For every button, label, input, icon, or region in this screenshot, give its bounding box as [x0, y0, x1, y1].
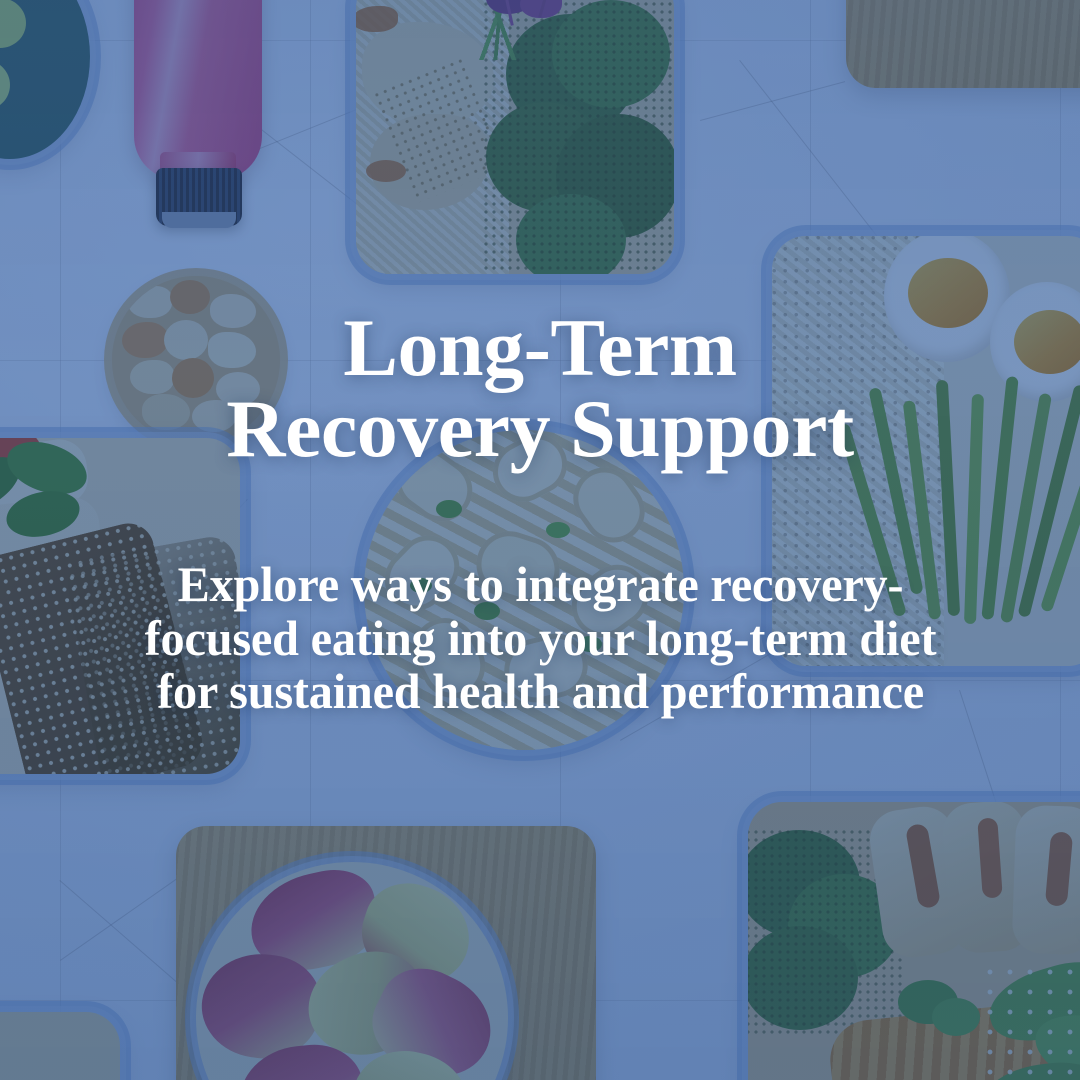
text-layer: Long-Term Recovery Support Explore ways …: [0, 0, 1080, 1080]
headline-line-1: Long-Term: [226, 307, 853, 388]
headline-line-2: Recovery Support: [226, 388, 853, 469]
poster-subheadline: Explore ways to integrate recovery-focus…: [132, 558, 947, 719]
poster-canvas: Long-Term Recovery Support Explore ways …: [0, 0, 1080, 1080]
poster-headline: Long-Term Recovery Support: [226, 307, 853, 469]
